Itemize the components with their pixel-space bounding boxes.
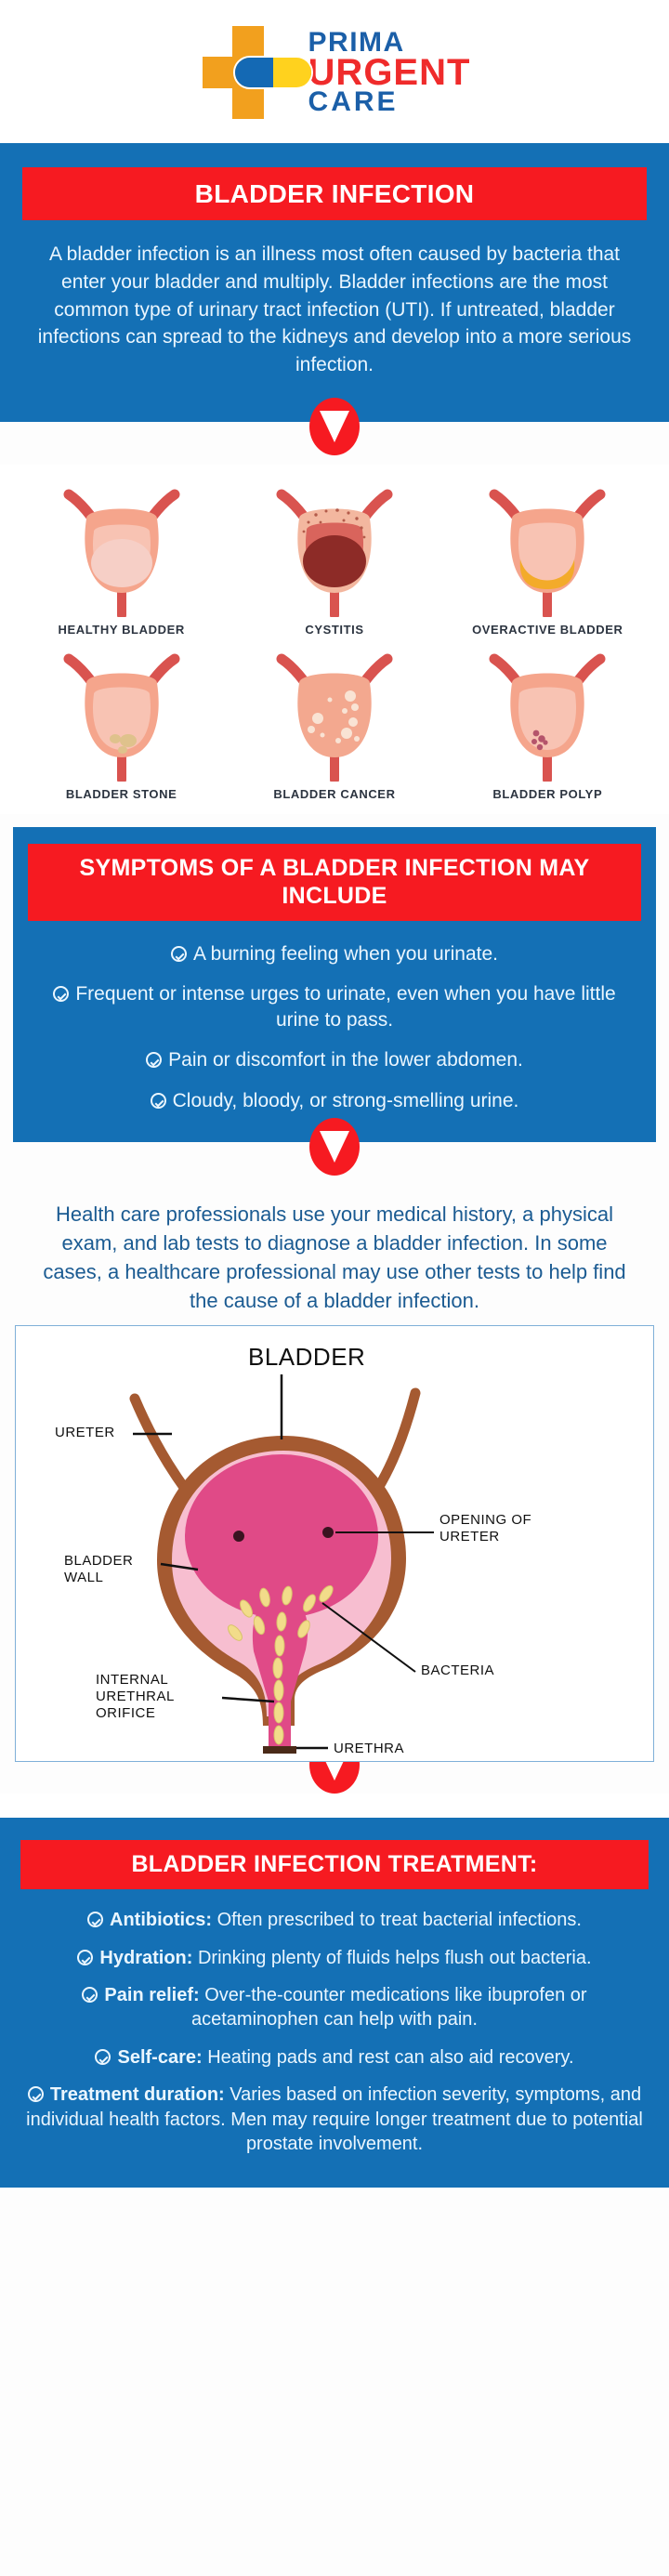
treatment-term: Pain relief: [104,1985,199,2005]
anatomy-label-urethra: URETHRA [334,1741,404,1757]
hero-section: BLADDER INFECTION A bladder infection is… [0,143,669,422]
hero-title-banner: BLADDER INFECTION [22,167,647,220]
symptoms-list: A burning feeling when you urinate. Freq… [28,941,641,1114]
infographic-page: PRIMA URGENT CARE BLADDER INFECTION A bl… [0,0,669,2576]
bladder-types-section: HEALTHY BLADDER CYST [0,465,669,814]
overactive-bladder-illustration [478,478,617,617]
arrow-divider-1 [0,398,669,455]
anatomy-label-ureter: URETER [55,1425,115,1441]
healthy-bladder-illustration [52,478,191,617]
check-circle-icon [87,1912,103,1927]
diagnosis-paragraph: Health care professionals use your medic… [0,1200,669,1316]
treatment-item: Pain relief: Over-the-counter medication… [20,1983,649,2032]
brand-header: PRIMA URGENT CARE [0,0,669,143]
treatment-term: Self-care: [117,2047,202,2068]
symptom-text: Pain or discomfort in the lower abdomen. [168,1049,523,1071]
down-arrow-badge-icon [309,1118,360,1176]
cystitis-bladder-illustration [265,478,404,617]
down-arrow-badge-icon [309,398,360,455]
pill-left-half [235,58,273,87]
treatment-list: Antibiotics: Often prescribed to treat b… [20,1908,649,2156]
bladder-card-healthy: HEALTHY BLADDER [29,478,215,637]
bladder-types-row-2: BLADDER STONE BLADDER CANCER [15,642,654,801]
treatment-item: Self-care: Heating pads and rest can als… [20,2045,649,2070]
brand-line-care: CARE [308,89,471,115]
check-circle-icon [171,946,187,962]
arrow-triangle [320,1131,349,1163]
symptoms-section: SYMPTOMS OF A BLADDER INFECTION MAY INCL… [0,814,669,1142]
treatment-text: Heating pads and rest can also aid recov… [207,2047,573,2068]
bladder-cancer-illustration [265,642,404,782]
pill-right-half [273,58,311,87]
symptom-text: Frequent or intense urges to urinate, ev… [75,983,615,1031]
bladder-card-cancer: BLADDER CANCER [242,642,427,801]
bladder-label: BLADDER POLYP [492,787,602,801]
bladder-card-overactive: OVERACTIVE BLADDER [454,478,640,637]
symptom-item: Frequent or intense urges to urinate, ev… [28,981,641,1033]
check-circle-icon [95,2049,111,2065]
check-circle-icon [28,2086,44,2102]
treatment-term: Antibiotics: [110,1910,212,1930]
symptoms-title-banner: SYMPTOMS OF A BLADDER INFECTION MAY INCL… [28,844,641,921]
check-circle-icon [146,1052,162,1068]
logo: PRIMA URGENT CARE [199,24,471,121]
treatment-text: Over-the-counter medications like ibupro… [191,1985,587,2030]
bladder-label: BLADDER STONE [66,787,177,801]
bladder-card-stone: BLADDER STONE [29,642,215,801]
anatomy-label-internal-urethral-orifice: INTERNAL URETHRAL ORIFICE [96,1672,175,1722]
treatment-title-banner: BLADDER INFECTION TREATMENT: [20,1840,649,1890]
brand-wordmark: PRIMA URGENT CARE [308,30,471,115]
treatment-text: Drinking plenty of fluids helps flush ou… [198,1948,592,1968]
symptom-text: Cloudy, bloody, or strong-smelling urine… [173,1090,519,1111]
arrow-triangle [320,411,349,442]
hero-paragraph: A bladder infection is an illness most o… [22,241,647,379]
bladder-label: CYSTITIS [305,623,363,637]
symptom-text: A burning feeling when you urinate. [193,943,498,965]
check-circle-icon [82,1987,98,2003]
treatment-item: Treatment duration: Varies based on infe… [20,2083,649,2156]
bladder-label: HEALTHY BLADDER [58,623,184,637]
bladder-polyp-illustration [478,642,617,782]
anatomy-label-bacteria: BACTERIA [421,1663,494,1679]
bladder-card-cystitis: CYSTITIS [242,478,427,637]
treatment-term: Treatment duration: [50,2084,225,2105]
pill-capsule-icon [233,56,313,89]
bladder-card-polyp: BLADDER POLYP [454,642,640,801]
symptom-item: Cloudy, bloody, or strong-smelling urine… [28,1088,641,1114]
brand-line-urgent: URGENT [308,56,471,90]
check-circle-icon [151,1093,166,1109]
arrow-divider-2 [0,1118,669,1176]
treatment-item: Hydration: Drinking plenty of fluids hel… [20,1946,649,1970]
medical-cross-pill-icon [199,24,295,121]
anatomy-label-bladder-wall: BLADDER WALL [64,1553,133,1586]
anatomy-label-opening-of-ureter: OPENING OF URETER [439,1512,531,1545]
bladder-anatomy-diagram: BLADDER [15,1325,654,1762]
treatment-text: Often prescribed to treat bacterial infe… [217,1910,582,1930]
check-circle-icon [77,1950,93,1965]
symptom-item: Pain or discomfort in the lower abdomen. [28,1047,641,1073]
bladder-stone-illustration [52,642,191,782]
check-circle-icon [53,986,69,1002]
bladder-label: BLADDER CANCER [273,787,395,801]
treatment-item: Antibiotics: Often prescribed to treat b… [20,1908,649,1932]
treatment-section: BLADDER INFECTION TREATMENT: Antibiotics… [0,1818,669,2188]
bladder-types-row-1: HEALTHY BLADDER CYST [15,478,654,637]
symptom-item: A burning feeling when you urinate. [28,941,641,967]
spacer [0,1794,669,1818]
bladder-label: OVERACTIVE BLADDER [472,623,623,637]
treatment-term: Hydration: [99,1948,192,1968]
